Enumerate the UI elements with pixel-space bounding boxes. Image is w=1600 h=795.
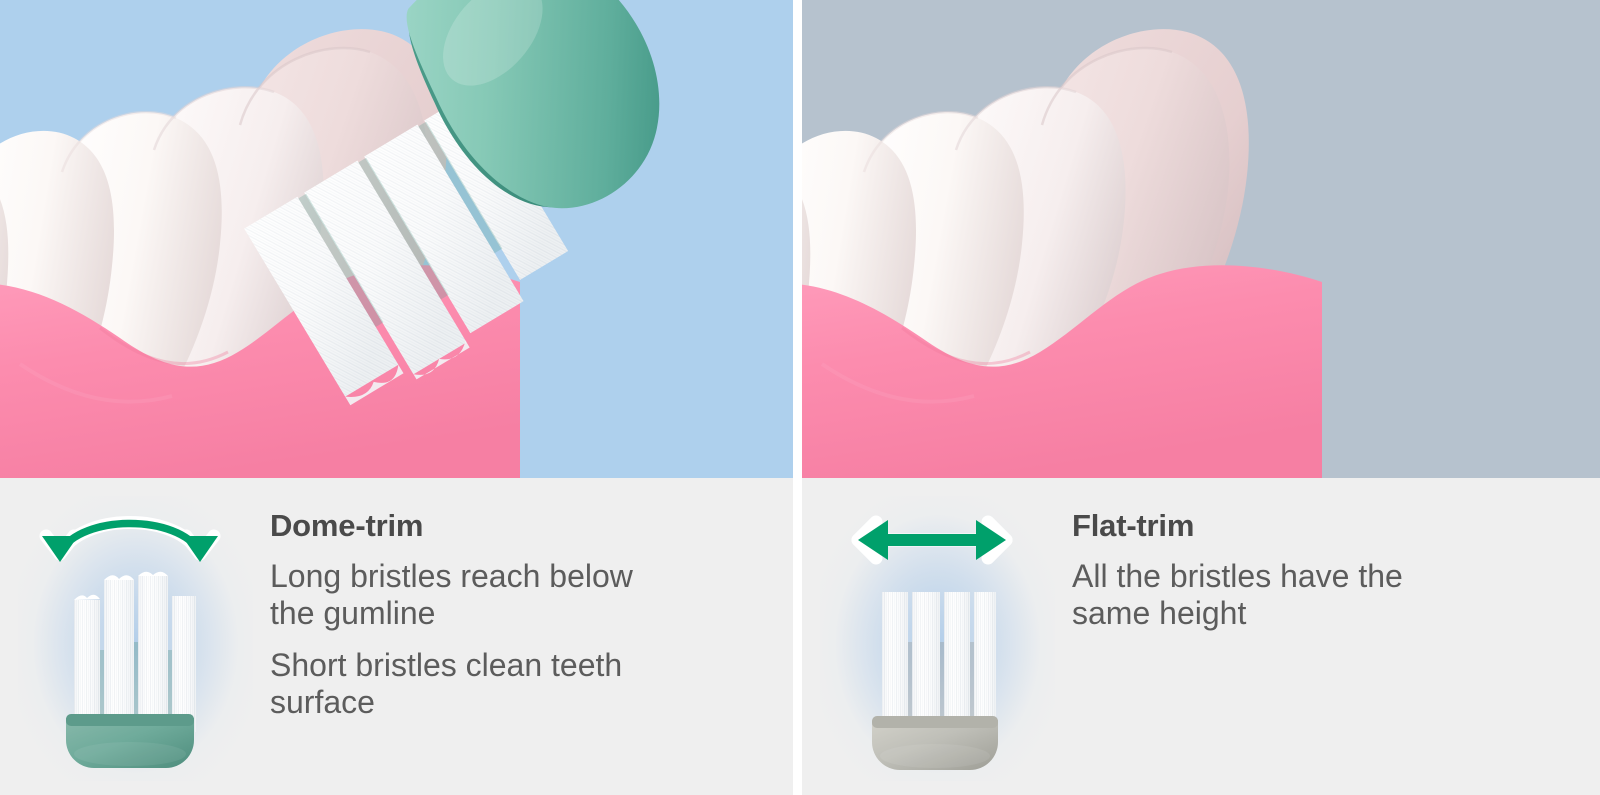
page-title-dome-trim: Dome-trim	[270, 510, 793, 541]
flat-trim-brush-icon	[832, 492, 1032, 782]
dome-trim-brush-icon	[30, 492, 230, 782]
panel-divider	[793, 0, 802, 795]
caption-dome-trim: Dome-trim Long bristles reach below the …	[0, 478, 793, 795]
dome-trim-text: Dome-trim Long bristles reach below the …	[270, 478, 793, 722]
panel-flat-trim: Flat-trim All the bristles have the same…	[802, 0, 1600, 795]
comparison-figure: Dome-trim Long bristles reach below the …	[0, 0, 1600, 795]
caption-flat-trim: Flat-trim All the bristles have the same…	[802, 478, 1600, 795]
flat-trim-text: Flat-trim All the bristles have the same…	[1072, 478, 1600, 633]
illustration-dome-trim	[0, 0, 793, 478]
dome-trim-line-2: Short bristles clean teeth surface	[270, 647, 665, 722]
page-title-flat-trim: Flat-trim	[1072, 510, 1600, 541]
dome-trim-icon-area	[0, 478, 270, 795]
straight-double-arrow-icon	[858, 520, 1006, 560]
curved-double-arrow-icon	[34, 490, 218, 562]
gum-illustration	[802, 248, 1322, 478]
flat-trim-icon-area	[802, 478, 1072, 795]
panel-dome-trim: Dome-trim Long bristles reach below the …	[0, 0, 793, 795]
dome-trim-line-1: Long bristles reach below the gumline	[270, 558, 665, 633]
brush-head-dome-trim	[150, 0, 750, 440]
illustration-flat-trim	[802, 0, 1600, 478]
flat-trim-line-1: All the bristles have the same height	[1072, 558, 1467, 633]
